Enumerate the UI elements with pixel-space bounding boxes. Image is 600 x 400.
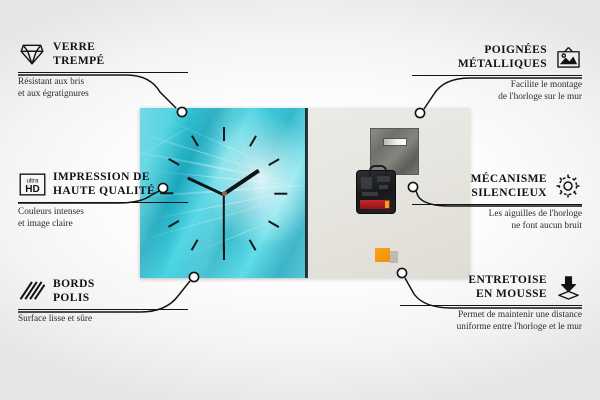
feature-description: Facilite le montage de l'horloge sur le … xyxy=(397,79,582,103)
picture-frame-icon xyxy=(554,44,582,70)
feature-heading: ultra HD IMPRESSION DE HAUTE QUALITÉ xyxy=(18,170,218,198)
feature-mecanisme-silencieux: MÉCANISME SILENCIEUX Les aiguilles de l'… xyxy=(397,172,582,232)
feature-divider xyxy=(412,75,582,76)
feature-divider xyxy=(400,305,582,306)
feature-title: BORDS POLIS xyxy=(53,277,95,305)
feature-poignees-metalliques: POIGNÉES MÉTALLIQUES Facilite le montage… xyxy=(397,43,582,103)
mechanism-battery xyxy=(360,200,390,209)
feature-title: IMPRESSION DE HAUTE QUALITÉ xyxy=(53,170,155,198)
feature-divider xyxy=(18,309,188,310)
feature-divider xyxy=(18,202,188,203)
infographic-canvas: VERRE TREMPÉ Résistant aux bris et aux é… xyxy=(0,0,600,400)
gear-icon xyxy=(554,173,582,199)
hanger-slot xyxy=(383,138,407,146)
svg-text:HD: HD xyxy=(25,184,40,195)
feature-description: Résistant aux bris et aux égratignures xyxy=(18,76,203,100)
feature-heading: POIGNÉES MÉTALLIQUES xyxy=(397,43,582,71)
feature-description: Couleurs intenses et image claire xyxy=(18,206,218,230)
foam-spacer xyxy=(375,248,390,262)
ultra-hd-icon: ultra HD xyxy=(18,171,46,197)
foam-spacer-shadow xyxy=(390,251,398,263)
feature-description: Permet de maintenir une distance uniform… xyxy=(385,309,582,333)
feature-verre-trempe: VERRE TREMPÉ Résistant aux bris et aux é… xyxy=(18,40,203,100)
battery-positive-tip xyxy=(385,201,389,208)
clock-tick xyxy=(274,193,287,195)
clock-mechanism xyxy=(356,170,396,214)
feature-heading: ENTRETOISE EN MOUSSE xyxy=(385,273,582,301)
feature-entretoise-en-mousse: ENTRETOISE EN MOUSSE Permet de maintenir… xyxy=(385,273,582,333)
feature-divider xyxy=(412,204,582,205)
feature-title: ENTRETOISE EN MOUSSE xyxy=(468,273,547,301)
feature-title: VERRE TREMPÉ xyxy=(53,40,105,68)
diamond-icon xyxy=(18,41,46,67)
feature-bords-polis: BORDS POLIS Surface lisse et sûre xyxy=(18,277,203,325)
feature-heading: BORDS POLIS xyxy=(18,277,203,305)
feature-description: Les aiguilles de l'horloge ne font aucun… xyxy=(397,208,582,232)
feature-heading: VERRE TREMPÉ xyxy=(18,40,203,68)
feature-impression-haute-qualite: ultra HD IMPRESSION DE HAUTE QUALITÉ Cou… xyxy=(18,170,218,230)
feature-title: POIGNÉES MÉTALLIQUES xyxy=(458,43,547,71)
mechanism-hanger-loop xyxy=(369,165,387,176)
arrow-down-layer-icon xyxy=(554,274,582,300)
diagonal-stripes-icon xyxy=(18,278,46,304)
feature-heading: MÉCANISME SILENCIEUX xyxy=(397,172,582,200)
feature-title: MÉCANISME SILENCIEUX xyxy=(471,172,547,200)
clock-tick xyxy=(223,127,225,141)
feature-divider xyxy=(18,72,188,73)
clock-center-cap xyxy=(222,191,227,196)
feature-description: Surface lisse et sûre xyxy=(18,313,203,325)
clock-second-hand xyxy=(223,194,225,251)
